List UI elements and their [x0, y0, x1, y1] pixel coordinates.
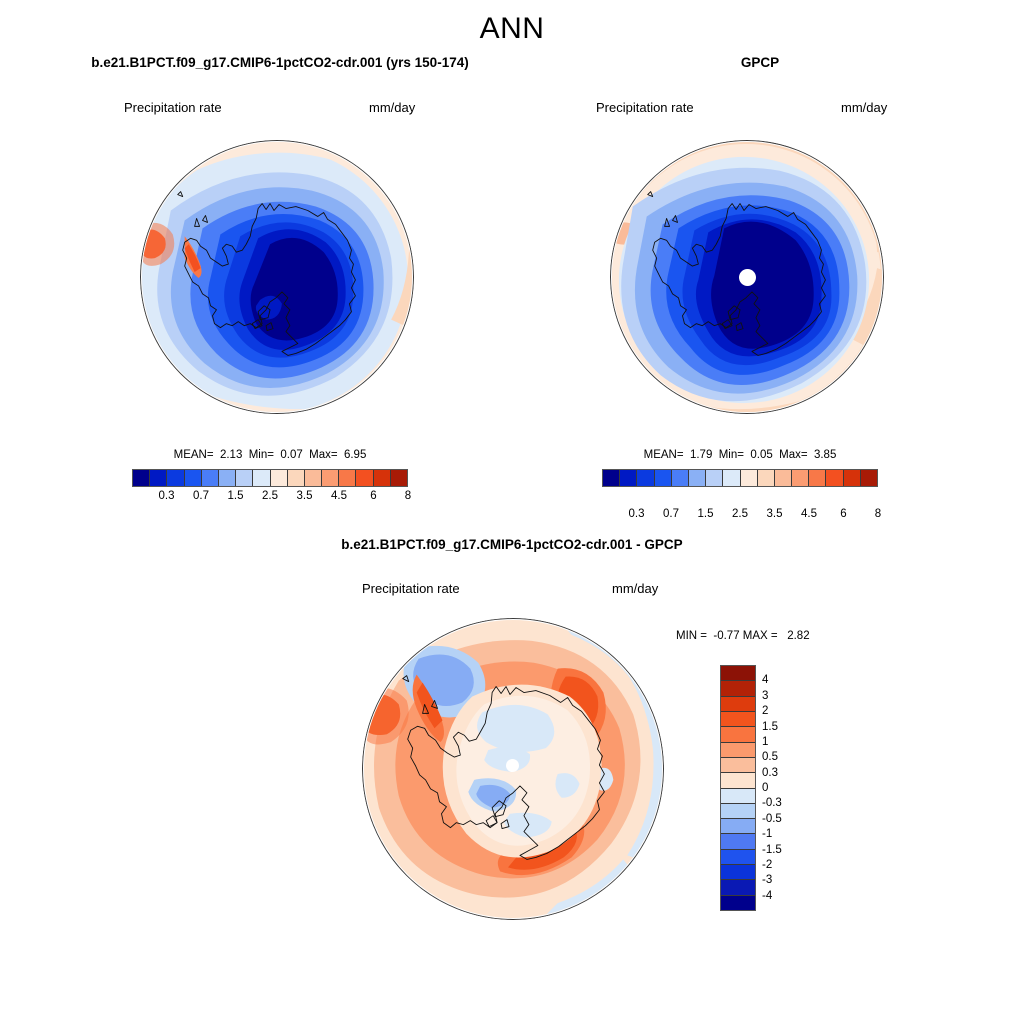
- panel-title-model-text: b.e21.B1PCT.f09_g17.CMIP6-1pctCO2-cdr.00…: [91, 55, 468, 70]
- obs-pole-missing-data-marker: [739, 269, 756, 286]
- panel-title-diff-text: b.e21.B1PCT.f09_g17.CMIP6-1pctCO2-cdr.00…: [341, 537, 682, 552]
- colorbar-tick-label: 6: [840, 508, 846, 520]
- colorbar-tick-label: 4.5: [801, 508, 817, 520]
- model-stats: MEAN= 2.13 Min= 0.07 Max= 6.95: [130, 449, 410, 461]
- map-model-field: [141, 141, 413, 413]
- colorbar-cell: [721, 834, 755, 849]
- map-obs-disc: [610, 140, 884, 414]
- colorbar-cell: [809, 470, 826, 486]
- colorbar-tick-label: 3.5: [767, 508, 783, 520]
- diff-units-label: mm/day: [612, 581, 658, 596]
- colorbar-cell: [775, 470, 792, 486]
- colorbar-tick-label: 0.7: [663, 508, 679, 520]
- colorbar-diff[interactable]: [720, 665, 756, 911]
- colorbar-cell: [637, 470, 654, 486]
- colorbar-tick-label: 4.5: [331, 490, 347, 502]
- colorbar-cell: [655, 470, 672, 486]
- diff-pole-missing-data-marker: [506, 759, 519, 772]
- colorbar-tick-label: 6: [370, 490, 376, 502]
- colorbar-cell: [202, 470, 219, 486]
- colorbar-cell: [689, 470, 706, 486]
- colorbar-cell: [721, 697, 755, 712]
- colorbar-model-ticks: 0.30.71.52.53.54.568: [132, 488, 408, 506]
- colorbar-cell: [322, 470, 339, 486]
- colorbar-cell: [721, 896, 755, 910]
- colorbar-cell: [721, 727, 755, 742]
- colorbar-tick-label: 2: [762, 705, 768, 717]
- colorbar-cell: [339, 470, 356, 486]
- colorbar-cell: [374, 470, 391, 486]
- colorbar-cell: [721, 789, 755, 804]
- model-variable-label: Precipitation rate: [124, 100, 222, 115]
- colorbar-cell: [603, 470, 620, 486]
- colorbar-cell: [133, 470, 150, 486]
- map-model-disc: [140, 140, 414, 414]
- colorbar-cell: [721, 758, 755, 773]
- colorbar-cell: [861, 470, 877, 486]
- colorbar-tick-label: -1: [762, 828, 772, 840]
- obs-variable-label: Precipitation rate: [596, 100, 694, 115]
- colorbar-cell: [721, 773, 755, 788]
- colorbar-tick-label: 0.3: [159, 490, 175, 502]
- colorbar-tick-label: 0.3: [762, 767, 778, 779]
- colorbar-cell: [305, 470, 322, 486]
- colorbar-cell: [236, 470, 253, 486]
- colorbar-tick-label: 1.5: [698, 508, 714, 520]
- colorbar-cell: [219, 470, 236, 486]
- colorbar-cell: [741, 470, 758, 486]
- colorbar-tick-label: 8: [875, 508, 881, 520]
- colorbar-cell: [391, 470, 407, 486]
- colorbar-cell: [185, 470, 202, 486]
- colorbar-obs-ticks: 0.30.71.52.53.54.568: [602, 506, 878, 524]
- colorbar-cell: [792, 470, 809, 486]
- colorbar-tick-label: 1.5: [762, 721, 778, 733]
- colorbar-cell: [721, 712, 755, 727]
- colorbar-cell: [672, 470, 689, 486]
- panel-title-obs-text: GPCP: [741, 55, 779, 70]
- colorbar-tick-label: 0: [762, 782, 768, 794]
- colorbar-tick-label: 0.5: [762, 751, 778, 763]
- colorbar-tick-label: -0.3: [762, 797, 782, 809]
- colorbar-cell: [356, 470, 373, 486]
- colorbar-cell: [721, 666, 755, 681]
- map-diff[interactable]: [362, 618, 664, 920]
- colorbar-cell: [844, 470, 861, 486]
- colorbar-cell: [721, 681, 755, 696]
- map-obs[interactable]: [610, 140, 884, 414]
- colorbar-diff-ticks: 4321.510.50.30-0.3-0.5-1-1.5-2-3-4: [762, 665, 808, 911]
- diff-variable-label: Precipitation rate: [362, 581, 460, 596]
- colorbar-cell: [706, 470, 723, 486]
- colorbar-tick-label: 2.5: [262, 490, 278, 502]
- colorbar-tick-label: -1.5: [762, 844, 782, 856]
- colorbar-cell: [253, 470, 270, 486]
- colorbar-tick-label: -0.5: [762, 813, 782, 825]
- colorbar-cell: [723, 470, 740, 486]
- diff-stats: MIN = -0.77 MAX = 2.82: [676, 630, 810, 642]
- map-model[interactable]: [140, 140, 414, 414]
- colorbar-tick-label: 0.7: [193, 490, 209, 502]
- map-diff-disc: [362, 618, 664, 920]
- colorbar-cell: [620, 470, 637, 486]
- colorbar-cell: [721, 850, 755, 865]
- colorbar-cell: [721, 819, 755, 834]
- colorbar-obs[interactable]: [602, 469, 878, 487]
- colorbar-cell: [721, 743, 755, 758]
- colorbar-tick-label: -2: [762, 859, 772, 871]
- colorbar-cell: [167, 470, 184, 486]
- colorbar-cell: [826, 470, 843, 486]
- colorbar-tick-label: 4: [762, 674, 768, 686]
- colorbar-cell: [721, 804, 755, 819]
- colorbar-cell: [758, 470, 775, 486]
- colorbar-tick-label: 0.3: [629, 508, 645, 520]
- obs-units-label: mm/day: [841, 100, 887, 115]
- obs-stats: MEAN= 1.79 Min= 0.05 Max= 3.85: [600, 449, 880, 461]
- colorbar-cell: [288, 470, 305, 486]
- colorbar-tick-label: -4: [762, 890, 772, 902]
- colorbar-cell: [721, 865, 755, 880]
- panel-title-diff: b.e21.B1PCT.f09_g17.CMIP6-1pctCO2-cdr.00…: [0, 536, 1024, 554]
- figure-main-title: ANN: [0, 12, 1024, 46]
- panel-title-obs: GPCP: [500, 54, 1020, 72]
- colorbar-tick-label: -3: [762, 874, 772, 886]
- colorbar-cell: [271, 470, 288, 486]
- colorbar-cell: [721, 880, 755, 895]
- model-units-label: mm/day: [369, 100, 415, 115]
- colorbar-tick-label: 3.5: [297, 490, 313, 502]
- colorbar-model[interactable]: [132, 469, 408, 487]
- colorbar-tick-label: 1.5: [228, 490, 244, 502]
- colorbar-cell: [150, 470, 167, 486]
- panel-title-model: b.e21.B1PCT.f09_g17.CMIP6-1pctCO2-cdr.00…: [20, 54, 540, 72]
- colorbar-tick-label: 8: [405, 490, 411, 502]
- colorbar-tick-label: 1: [762, 736, 768, 748]
- colorbar-tick-label: 2.5: [732, 508, 748, 520]
- colorbar-tick-label: 3: [762, 690, 768, 702]
